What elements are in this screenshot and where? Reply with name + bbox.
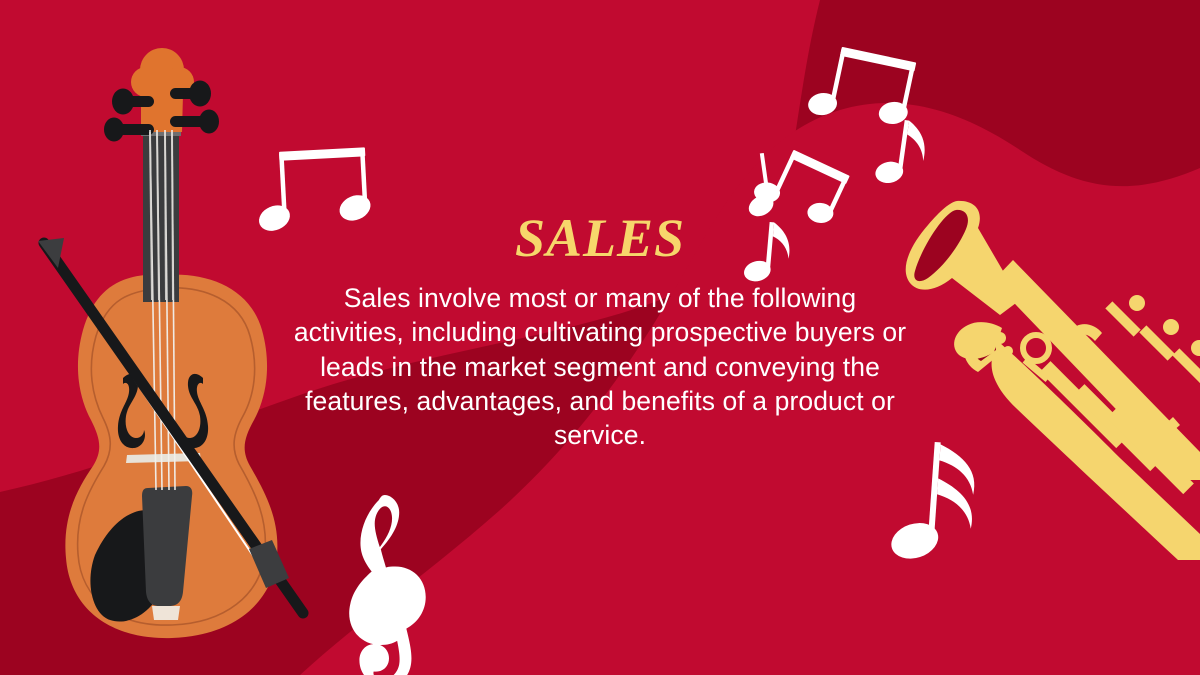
text-content-block: SALES Sales involve most or many of the … [290,210,910,453]
sixteenth-note-bottom-right [884,439,977,569]
page-title: SALES [290,210,910,267]
beamed-eighth-note-pair-top-right [802,42,921,138]
treble-clef-icon [349,495,426,675]
single-eighth-note-upper-right [871,117,929,192]
slide-canvas: SALES Sales involve most or many of the … [0,0,1200,675]
body-paragraph: Sales involve most or many of the follow… [290,281,910,453]
